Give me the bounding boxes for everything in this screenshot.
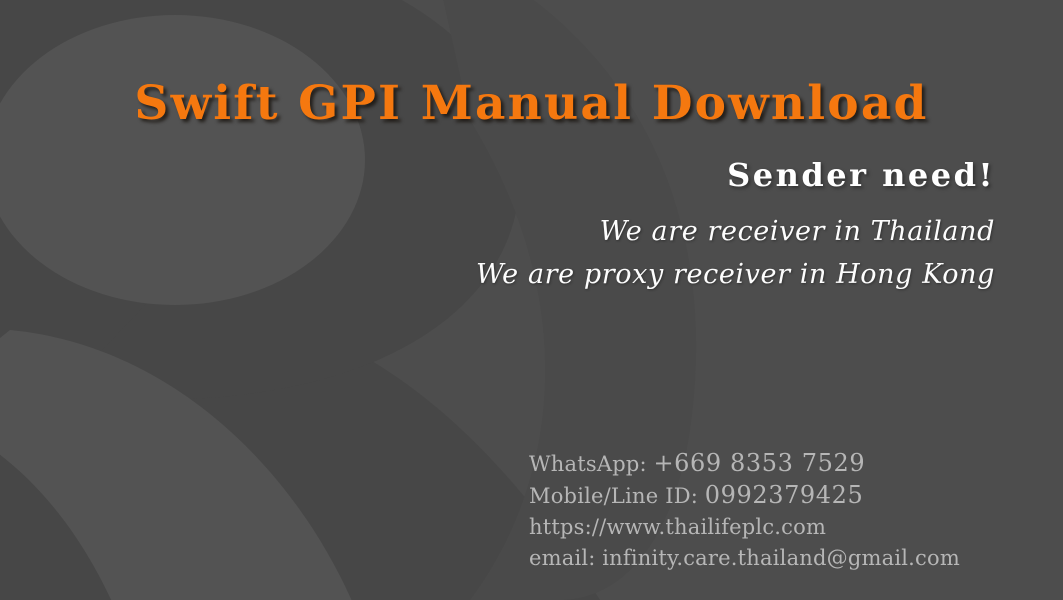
contact-value: +669 8353 7529 (653, 449, 865, 477)
email-address[interactable]: infinity.care.thailand@gmail.com (602, 546, 960, 570)
watermark-bowl-shadow (120, 0, 520, 400)
contact-line-mobile: Mobile/Line ID: 0992379425 (529, 480, 960, 512)
contact-label: Mobile/Line ID: (529, 484, 698, 508)
watermark-bowl-counter (0, 15, 365, 305)
page-title: Swift GPI Manual Download (0, 80, 1063, 127)
contact-line-email[interactable]: email: infinity.care.thailand@gmail.com (529, 543, 960, 574)
contact-label: WhatsApp: (529, 452, 647, 476)
contact-value: 0992379425 (705, 481, 864, 509)
watermark-leg-shadow (40, 300, 600, 600)
statement-line: We are receiver in Thailand (476, 210, 995, 253)
contact-block: WhatsApp: +669 8353 7529 Mobile/Line ID:… (529, 448, 960, 574)
watermark-leg-highlight (0, 330, 360, 600)
website-url[interactable]: https://www.thailifeplc.com (529, 515, 826, 539)
contact-line-website[interactable]: https://www.thailifeplc.com (529, 512, 960, 543)
contact-line-whatsapp: WhatsApp: +669 8353 7529 (529, 448, 960, 480)
contact-label: email: (529, 546, 596, 570)
slide-canvas: Swift GPI Manual Download Sender need! W… (0, 0, 1063, 600)
subtitle-sender-need: Sender need! (727, 156, 995, 194)
statement-block: We are receiver in Thailand We are proxy… (476, 210, 995, 296)
statement-line: We are proxy receiver in Hong Kong (476, 253, 995, 296)
